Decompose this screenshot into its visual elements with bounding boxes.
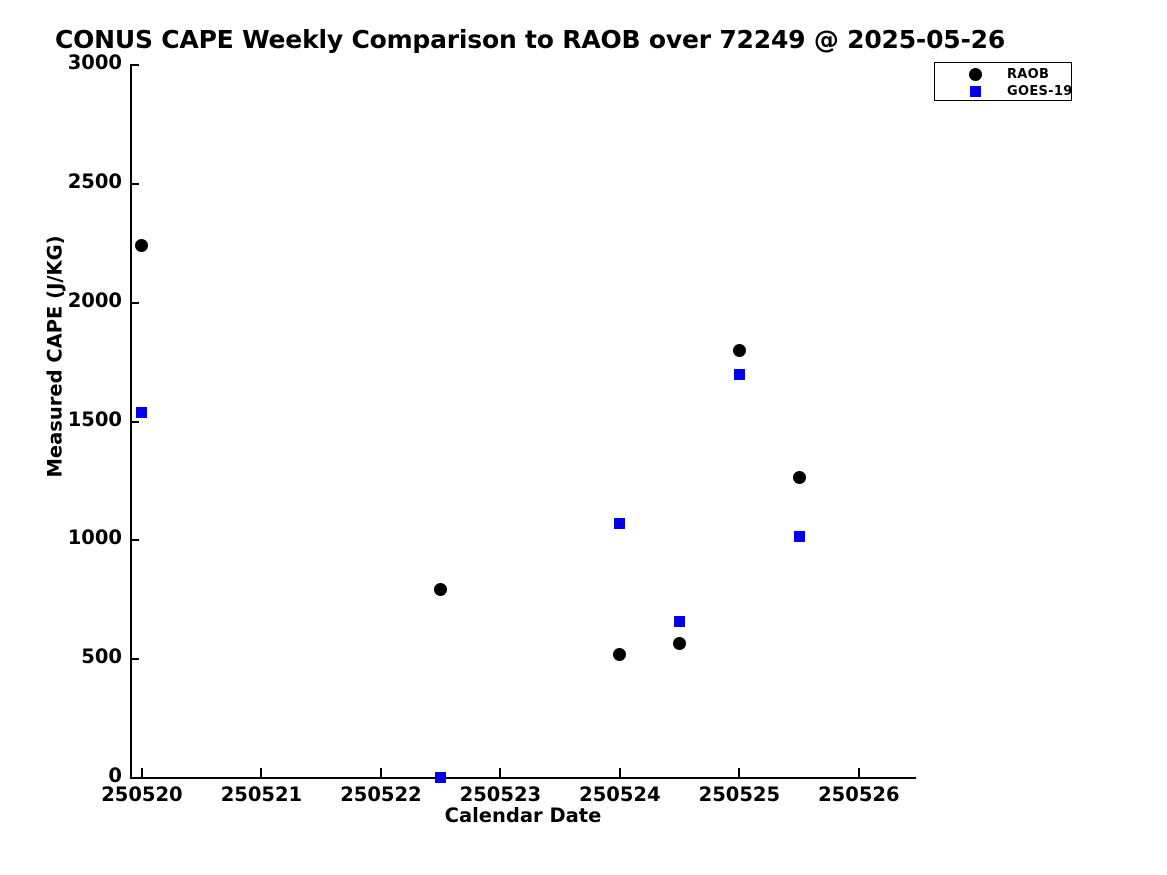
legend-entry-raob: RAOB (935, 65, 1071, 83)
y-tick-label: 2500 (12, 170, 122, 193)
legend: RAOB GOES-19 (934, 62, 1072, 101)
data-point-goes-19 (136, 407, 147, 418)
y-tick-label: 3000 (12, 51, 122, 74)
y-tick-label: 1000 (12, 526, 122, 549)
data-point-goes-19 (734, 369, 745, 380)
y-tick-label: 2000 (12, 289, 122, 312)
page-title: CONUS CAPE Weekly Comparison to RAOB ove… (0, 25, 1060, 54)
legend-marker-raob (961, 65, 989, 83)
legend-entry-goes19: GOES-19 (935, 82, 1071, 100)
legend-label-raob: RAOB (1007, 67, 1049, 82)
y-axis-label: Measured CAPE (J/KG) (44, 107, 67, 607)
y-tick-label: 500 (12, 645, 122, 668)
data-point-goes-19 (435, 772, 446, 783)
plot-area (130, 65, 915, 778)
x-axis-label: Calendar Date (130, 804, 916, 827)
legend-marker-goes19 (961, 82, 989, 100)
data-point-raob (434, 583, 447, 596)
data-point-goes-19 (794, 531, 805, 542)
circle-marker-icon (969, 68, 982, 81)
legend-label-goes19: GOES-19 (1007, 84, 1073, 99)
figure-canvas: CONUS CAPE Weekly Comparison to RAOB ove… (0, 0, 1167, 875)
y-tick-label: 1500 (12, 408, 122, 431)
square-marker-icon (970, 86, 981, 97)
data-point-goes-19 (674, 616, 685, 627)
data-point-raob (673, 637, 686, 650)
data-point-goes-19 (614, 518, 625, 529)
data-point-raob (793, 471, 806, 484)
x-tick-label: 250526 (789, 783, 929, 806)
